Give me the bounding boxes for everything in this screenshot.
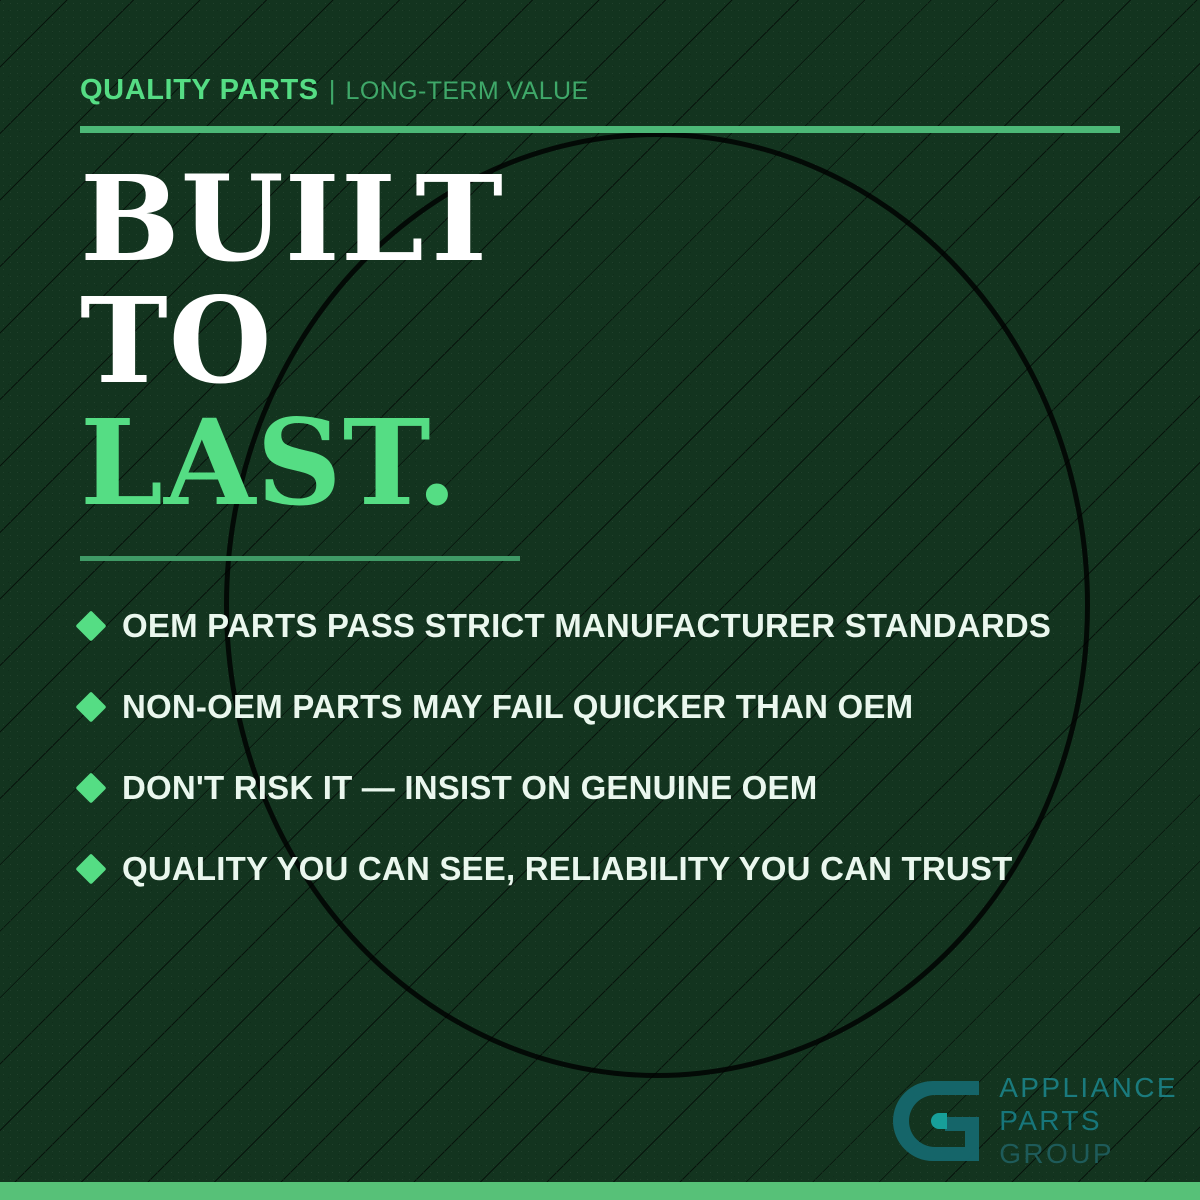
headline-line-2: TO bbox=[80, 280, 504, 402]
eyebrow-sub-label: LONG-TERM VALUE bbox=[346, 77, 589, 106]
eyebrow-separator: | bbox=[329, 75, 336, 106]
bottom-accent-bar bbox=[0, 1182, 1200, 1200]
header-divider bbox=[80, 126, 1120, 133]
list-item: DON'T RISK IT — INSIST ON GENUINE OEM bbox=[80, 747, 1140, 828]
list-item: NON-OEM PARTS MAY FAIL QUICKER THAN OEM bbox=[80, 666, 1140, 747]
page-title: BUILT TO LAST. bbox=[80, 158, 504, 524]
eyebrow-main-label: QUALITY PARTS bbox=[80, 74, 319, 107]
list-item: QUALITY YOU CAN SEE, RELIABILITY YOU CAN… bbox=[80, 828, 1140, 909]
list-item-label: QUALITY YOU CAN SEE, RELIABILITY YOU CAN… bbox=[122, 850, 1013, 888]
poster-canvas: QUALITY PARTS | LONG-TERM VALUE BUILT TO… bbox=[0, 0, 1200, 1200]
headline-line-1: BUILT bbox=[80, 158, 504, 280]
list-item: OEM PARTS PASS STRICT MANUFACTURER STAND… bbox=[80, 585, 1140, 666]
brand-word-1: APPLIANCE bbox=[999, 1074, 1178, 1102]
diamond-bullet-icon bbox=[75, 853, 106, 884]
headline-line-3: LAST. bbox=[80, 402, 504, 524]
brand-wordmark: APPLIANCE PARTS GROUP bbox=[999, 1074, 1178, 1173]
list-item-label: DON'T RISK IT — INSIST ON GENUINE OEM bbox=[122, 769, 817, 807]
list-item-label: NON-OEM PARTS MAY FAIL QUICKER THAN OEM bbox=[122, 688, 913, 726]
diamond-bullet-icon bbox=[75, 610, 106, 641]
headline-divider bbox=[80, 556, 520, 561]
brand-logo: APPLIANCE PARTS GROUP bbox=[883, 1073, 1178, 1174]
diamond-bullet-icon bbox=[75, 691, 106, 722]
list-item-label: OEM PARTS PASS STRICT MANUFACTURER STAND… bbox=[122, 607, 1051, 645]
brand-word-2: PARTS bbox=[999, 1107, 1178, 1135]
diamond-bullet-icon bbox=[75, 772, 106, 803]
g-monogram-icon bbox=[883, 1073, 987, 1174]
brand-word-3: GROUP bbox=[999, 1140, 1178, 1168]
eyebrow: QUALITY PARTS | LONG-TERM VALUE bbox=[80, 74, 589, 107]
benefits-list: OEM PARTS PASS STRICT MANUFACTURER STAND… bbox=[80, 585, 1140, 909]
